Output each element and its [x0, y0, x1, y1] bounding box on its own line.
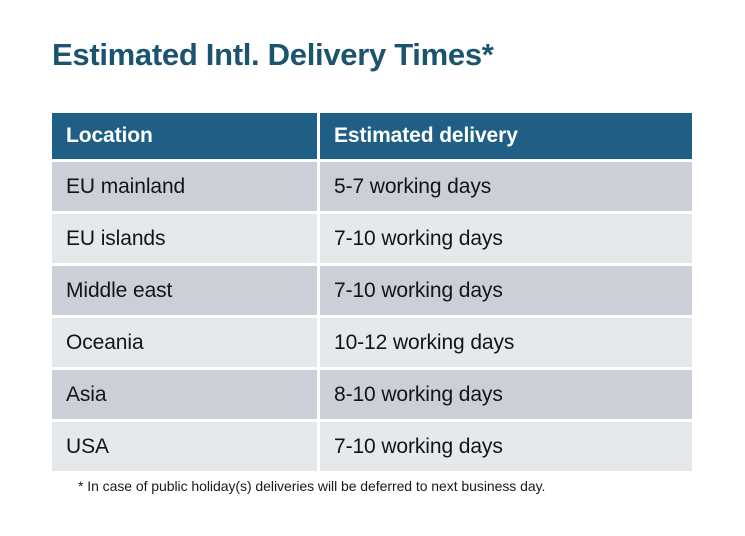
cell-location: Oceania: [52, 318, 317, 367]
cell-estimated-delivery: 8-10 working days: [320, 370, 692, 419]
table-row: EU mainland 5-7 working days: [52, 162, 692, 211]
cell-estimated-delivery: 7-10 working days: [320, 266, 692, 315]
footnote-public-holiday-note: * In case of public holiday(s) deliverie…: [78, 478, 545, 494]
page-title: Estimated Intl. Delivery Times*: [52, 36, 494, 73]
cell-estimated-delivery: 7-10 working days: [320, 422, 692, 471]
table-row: EU islands 7-10 working days: [52, 214, 692, 263]
estimated-delivery-times-table: Location Estimated delivery EU mainland …: [52, 113, 692, 471]
delivery-times-page: Estimated Intl. Delivery Times* Location…: [0, 0, 745, 536]
cell-location: EU mainland: [52, 162, 317, 211]
cell-location: EU islands: [52, 214, 317, 263]
table-row: Oceania 10-12 working days: [52, 318, 692, 367]
cell-estimated-delivery: 5-7 working days: [320, 162, 692, 211]
table-header-row: Location Estimated delivery: [52, 113, 692, 159]
cell-location: Asia: [52, 370, 317, 419]
cell-location: USA: [52, 422, 317, 471]
table-row: USA 7-10 working days: [52, 422, 692, 471]
table-row: Middle east 7-10 working days: [52, 266, 692, 315]
cell-estimated-delivery: 7-10 working days: [320, 214, 692, 263]
cell-estimated-delivery: 10-12 working days: [320, 318, 692, 367]
column-header-location: Location: [52, 113, 317, 159]
column-header-estimated-delivery: Estimated delivery: [320, 113, 692, 159]
table-row: Asia 8-10 working days: [52, 370, 692, 419]
cell-location: Middle east: [52, 266, 317, 315]
